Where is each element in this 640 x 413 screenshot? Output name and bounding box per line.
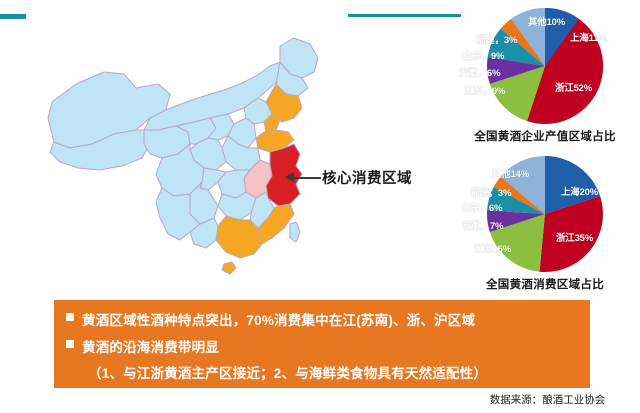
key-points-box: 黄酒区域性酒种特点突出，70%消费集中在江(苏南)、浙、沪区域 黄酒的沿海消费带… [54,300,590,388]
key-point-row-2: 黄酒的沿海消费带明显 [66,336,590,356]
chart-consumption-share: 其他14% 上海20% 福建，3% 山东，6% 安徽，7% 江苏15% 浙江35… [452,152,638,300]
callout-leader-line [293,177,321,179]
pie-canvas-2 [452,152,638,276]
pie-caption-1: 全国黄酒企业产值区域占比 [452,128,638,144]
china-map [18,18,348,290]
callout-arrow-icon [285,172,294,182]
accent-rule-right [348,14,461,17]
square-bullet-icon [66,340,74,348]
source-attribution: 数据来源：酿酒工业协会 [455,392,640,407]
pie-caption-2: 全国黄酒消费区域占比 [452,276,638,292]
map-core-region-label: 核心消费区域 [322,167,412,188]
slide-root: 核心消费区域 [0,0,640,413]
chart-output-value-share: 其他10% 上海11% 福建，3% 山东，9% 安徽，6% 江苏，9% 浙江52… [452,4,638,152]
key-point-subnote: （1、与江浙黄酒主产区接近；2、与海鲜类食物具有天然适配性） [88,362,590,382]
key-point-text-2: 黄酒的沿海消费带明显 [82,336,219,356]
key-point-text-1: 黄酒区域性酒种特点突出，70%消费集中在江(苏南)、浙、沪区域 [82,309,475,329]
pie-canvas-1 [452,4,638,128]
square-bullet-icon [66,313,74,321]
key-point-row-1: 黄酒区域性酒种特点突出，70%消费集中在江(苏南)、浙、沪区域 [66,309,590,329]
